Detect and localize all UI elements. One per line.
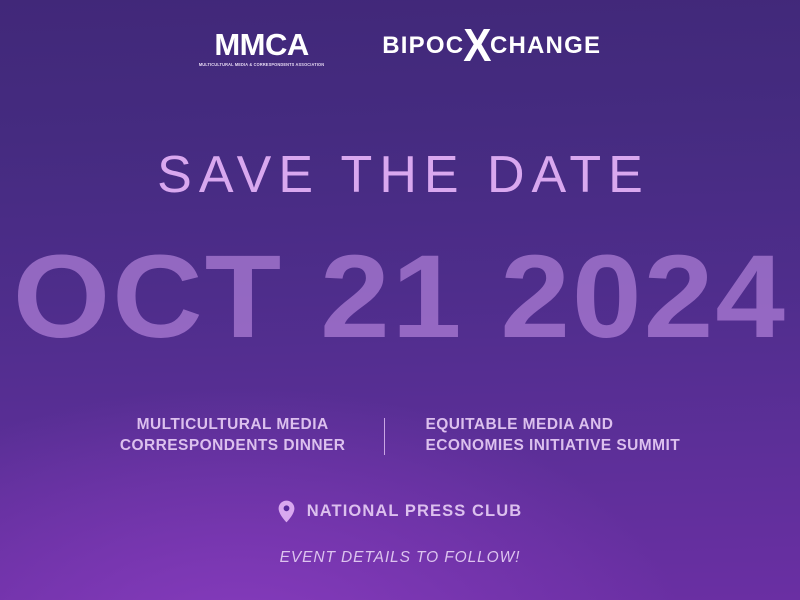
event-mmcd-line2: CORRESPONDENTS DINNER — [120, 435, 346, 456]
venue-name: NATIONAL PRESS CLUB — [307, 502, 523, 521]
event-date: OCT 21 2024 — [0, 238, 800, 356]
bipoc-x-glyph: X — [463, 31, 491, 60]
logo-row: MMCA MULTICULTURAL MEDIA & CORRESPONDENT… — [0, 26, 800, 67]
event-mmcd-line1: MULTICULTURAL MEDIA — [120, 414, 346, 435]
footer-note: EVENT DETAILS TO FOLLOW! — [0, 549, 800, 567]
mmca-logo: MMCA MULTICULTURAL MEDIA & CORRESPONDENT… — [199, 26, 324, 67]
save-the-date-heading: SAVE THE DATE — [0, 149, 800, 201]
event-titles: MULTICULTURAL MEDIA CORRESPONDENTS DINNE… — [0, 414, 800, 457]
venue-row: NATIONAL PRESS CLUB — [0, 500, 800, 523]
bipoc-suffix: CHANGE — [490, 34, 601, 58]
map-pin-icon — [278, 500, 295, 523]
save-the-date-poster: MMCA MULTICULTURAL MEDIA & CORRESPONDENT… — [0, 0, 800, 600]
bipoc-prefix: BIPOC — [382, 34, 464, 58]
mmca-tagline: MULTICULTURAL MEDIA & CORRESPONDENTS ASS… — [199, 62, 324, 68]
event-mmcd: MULTICULTURAL MEDIA CORRESPONDENTS DINNE… — [120, 414, 385, 457]
event-emeis-line1: EQUITABLE MEDIA AND — [425, 414, 680, 435]
mmca-wordmark: MMCA — [214, 29, 308, 60]
bipocxchange-logo: BIPOC X CHANGE — [382, 26, 601, 61]
event-emeis-line2: ECONOMIES INITIATIVE SUMMIT — [425, 435, 680, 456]
event-emeis: EQUITABLE MEDIA AND ECONOMIES INITIATIVE… — [385, 414, 680, 457]
